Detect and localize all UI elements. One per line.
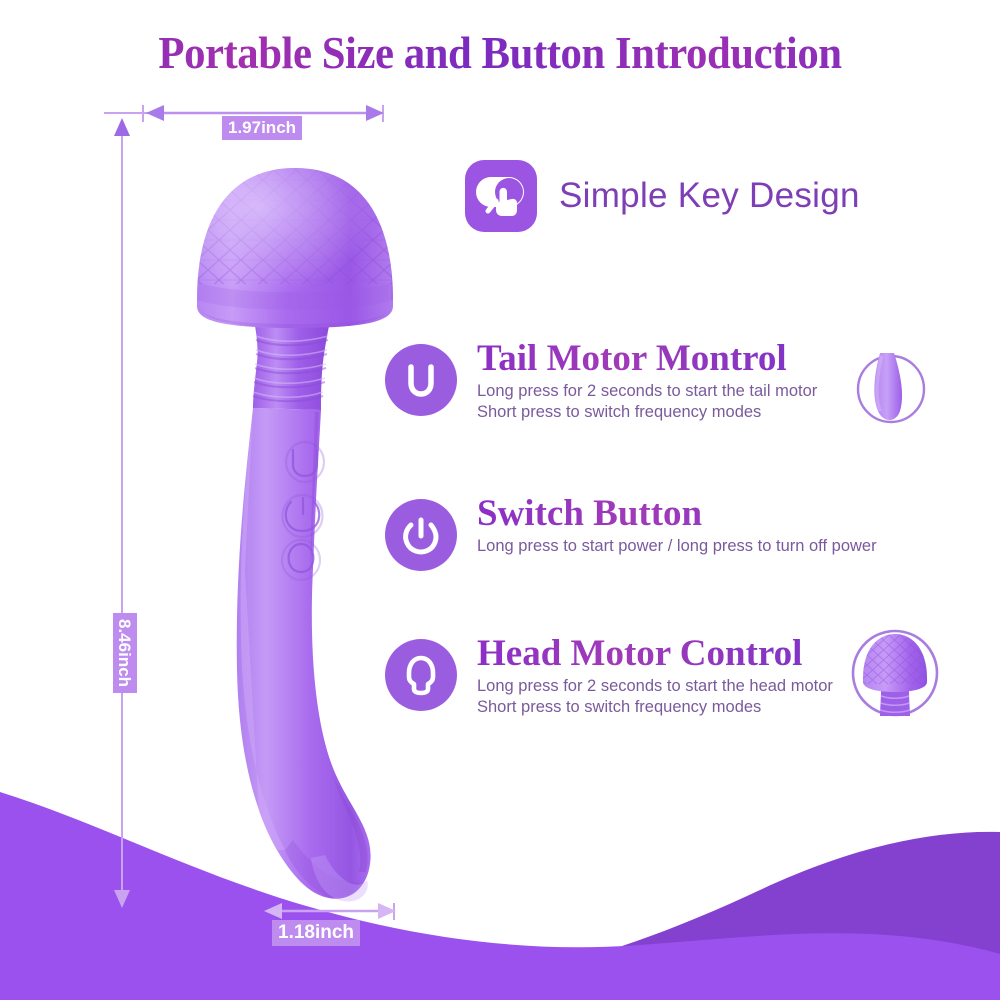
arrow-right <box>366 105 384 121</box>
feature-head-motor-line2: Short press to switch frequency modes <box>477 697 833 718</box>
feature-switch-button: Switch Button Long press to start power … <box>385 495 877 571</box>
feature-switch-button-text: Switch Button Long press to start power … <box>477 495 877 557</box>
feature-head-motor-text: Head Motor Control Long press for 2 seco… <box>477 635 833 718</box>
feature-switch-button-line1: Long press to start power / long press t… <box>477 536 877 557</box>
feature-simple-key-title: Simple Key Design <box>559 176 860 216</box>
feature-head-motor-title: Head Motor Control <box>477 635 833 672</box>
u-letter-icon <box>385 344 457 416</box>
tail-tip-thumbnail <box>852 345 930 433</box>
device-head <box>189 164 405 330</box>
feature-tail-motor-line2: Short press to switch frequency modes <box>477 402 817 423</box>
device-neck <box>253 326 329 410</box>
arrow-left <box>146 105 164 121</box>
dimension-label-width: 1.97inch <box>222 116 302 140</box>
page-title: Portable Size and Button Introduction <box>35 26 965 79</box>
feature-tail-motor-line1: Long press for 2 seconds to start the ta… <box>477 381 817 402</box>
dimension-label-base: 1.18inch <box>272 920 360 946</box>
power-icon <box>385 499 457 571</box>
dimension-label-height: 8.46inch <box>113 613 137 693</box>
feature-tail-motor: Tail Motor Montrol Long press for 2 seco… <box>385 340 817 423</box>
feature-simple-key-design: Simple Key Design <box>465 160 860 232</box>
decorative-waves <box>0 740 1000 1000</box>
feature-head-motor: Head Motor Control Long press for 2 seco… <box>385 635 833 718</box>
feature-tail-motor-title: Tail Motor Montrol <box>477 340 817 377</box>
feature-switch-button-title: Switch Button <box>477 495 877 532</box>
feature-tail-motor-text: Tail Motor Montrol Long press for 2 seco… <box>477 340 817 423</box>
feature-head-motor-line1: Long press for 2 seconds to start the he… <box>477 676 833 697</box>
arrow-up <box>114 118 130 136</box>
toggle-tap-icon <box>465 160 537 232</box>
head-dome-icon <box>385 639 457 711</box>
wand-massager-product-image <box>175 150 415 910</box>
head-dome-thumbnail <box>845 620 945 725</box>
